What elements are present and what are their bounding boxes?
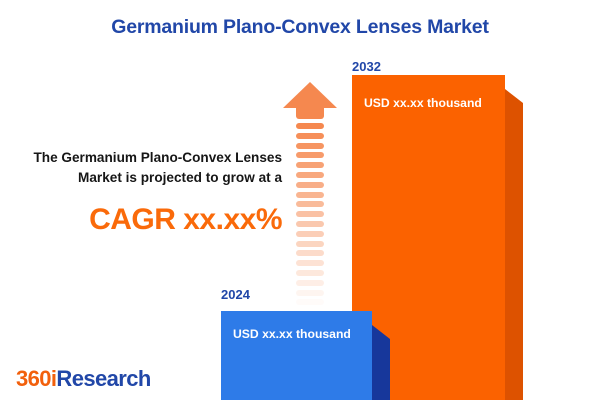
arrow-shaft-stripe xyxy=(296,260,324,266)
growth-statement-text: The Germanium Plano-Convex Lenses Market… xyxy=(20,148,282,188)
arrow-shaft-stripe xyxy=(296,270,324,276)
arrow-shaft-stripe xyxy=(296,221,324,227)
arrow-shaft-stripe xyxy=(296,280,324,286)
arrow-shaft-stripe xyxy=(296,211,324,217)
bar-value-label-2032: USD xx.xx thousand xyxy=(364,96,482,110)
arrow-shaft-stripe xyxy=(296,201,324,207)
arrow-shaft-stripe xyxy=(296,133,324,139)
page-title: Germanium Plano-Convex Lenses Market xyxy=(0,16,600,39)
arrow-shaft-stripe xyxy=(296,172,324,178)
bar-year-label-2032: 2032 xyxy=(352,59,381,74)
arrow-shaft-stripe xyxy=(296,152,324,158)
brand-logo: 360iResearch xyxy=(16,366,151,392)
growth-arrow-icon xyxy=(283,82,337,287)
bar-year-label-2024: 2024 xyxy=(221,287,250,302)
arrow-shaft-stripe xyxy=(296,162,324,168)
arrow-shaft-stripe xyxy=(296,143,324,149)
logo-text-360i: 360i xyxy=(16,366,56,391)
arrow-shaft-stripe xyxy=(296,182,324,188)
arrow-neck xyxy=(296,107,324,119)
arrow-head-icon xyxy=(283,82,337,108)
infographic-canvas: Germanium Plano-Convex Lenses Market The… xyxy=(0,0,600,400)
arrow-shaft-stripe xyxy=(296,123,324,129)
arrow-shaft-stripe xyxy=(296,299,324,305)
cagr-value: CAGR xx.xx% xyxy=(20,203,282,237)
bar-2024 xyxy=(221,311,372,400)
bar-value-label-2024: USD xx.xx thousand xyxy=(233,327,351,341)
arrow-shaft-stripe xyxy=(296,231,324,237)
arrow-shaft-stripe xyxy=(296,250,324,256)
arrow-shaft-stripe xyxy=(296,241,324,247)
arrow-shaft-stripe xyxy=(296,192,324,198)
bar-side-face-2032 xyxy=(505,89,523,400)
logo-text-research: Research xyxy=(56,366,150,391)
arrow-shaft-stripe xyxy=(296,290,324,296)
